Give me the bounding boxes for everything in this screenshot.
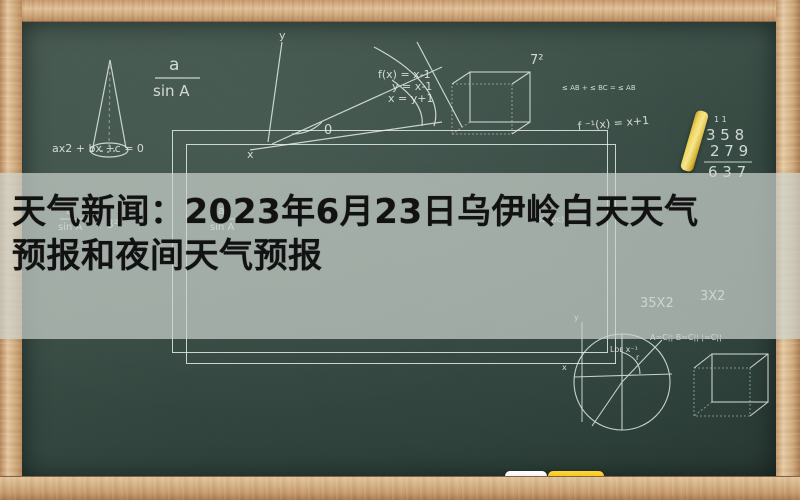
circle-label-x: x	[562, 363, 567, 372]
headline-line-1: 天气新闻：2023年6月23日乌伊岭白天天气	[12, 192, 699, 232]
chalk-ledge	[0, 476, 800, 500]
frame-top-rail	[0, 0, 800, 22]
column-addition: 1 1 3 5 8 2 7 9 6 3 7	[704, 115, 752, 181]
function-equations: f(x) = x-1 y = x-1 x = y+1	[378, 68, 433, 105]
headline-title: 天气新闻：2023年6月23日乌伊岭白天天气预报和夜间天气预报	[12, 190, 800, 278]
quadratic-formula: ax2 + bx +c = 0	[52, 142, 144, 155]
seven-squared: 7²	[530, 53, 543, 68]
svg-text:sin A: sin A	[153, 82, 190, 100]
headline-line-2: 预报和夜间天气预报	[12, 236, 323, 276]
axis-label-y: y	[279, 29, 286, 42]
circle-label-r: r	[636, 353, 640, 362]
fraction-a-over-sin-a-top: a sin A	[153, 55, 200, 100]
svg-text:a: a	[169, 55, 179, 75]
svg-text:x = y+1: x = y+1	[388, 92, 433, 105]
banner-image: a sin A ax2 + bx +c = 0 y	[0, 0, 800, 500]
cube-diagram-2	[694, 354, 768, 416]
svg-text:2 7 9: 2 7 9	[710, 142, 748, 160]
cube-diagram-1	[452, 72, 530, 134]
svg-text:1 1: 1 1	[714, 115, 727, 124]
segment-equation: ≤ AB + ≤ BC = ≤ AB	[562, 84, 636, 92]
